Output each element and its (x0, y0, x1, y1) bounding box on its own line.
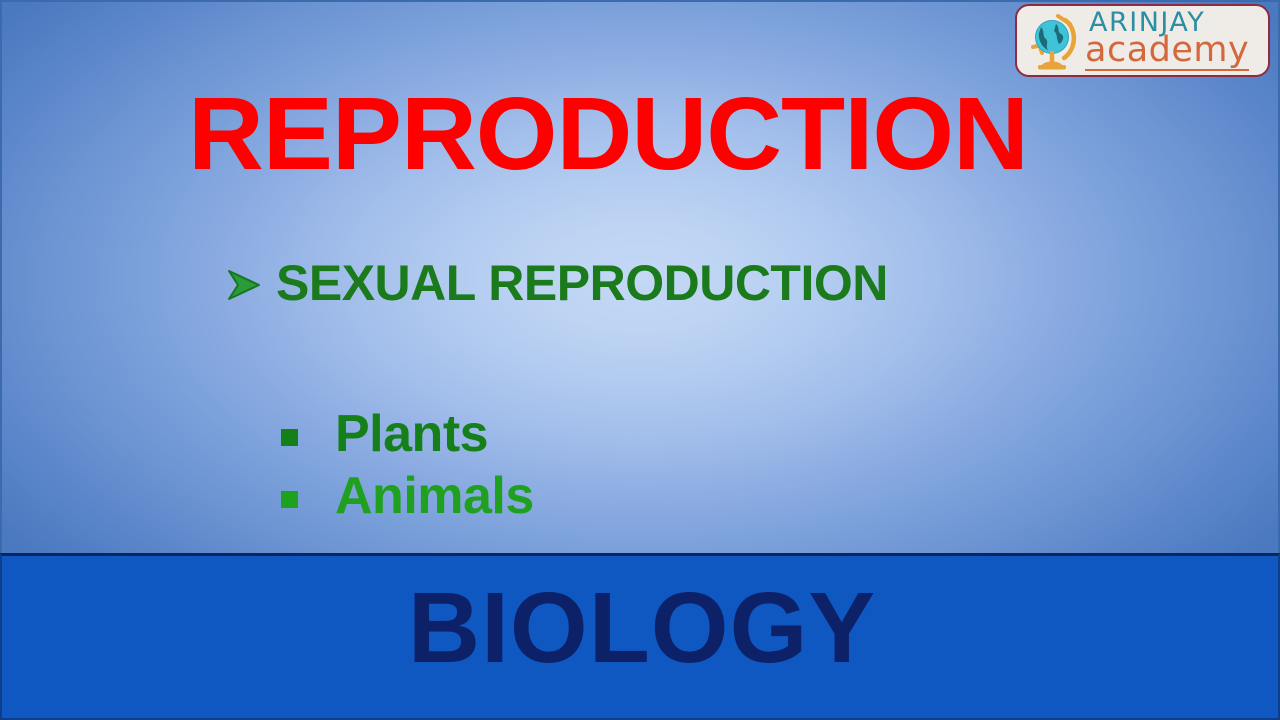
square-bullet-icon (281, 429, 298, 446)
bullet-label-animals: Animals (335, 470, 534, 522)
bullet-item-sexual-reproduction: SEXUAL REPRODUCTION (226, 258, 888, 308)
logo-line-academy: academy (1085, 33, 1249, 71)
slide-content-area: ARINJAY academy REPRODUCTION SEXUAL REPR… (0, 0, 1280, 553)
presentation-slide: ARINJAY academy REPRODUCTION SEXUAL REPR… (0, 0, 1280, 720)
arrow-bullet-icon (226, 265, 262, 305)
bullet-item-animals: Animals (281, 470, 534, 522)
subject-banner: BIOLOGY (0, 553, 1280, 720)
bullet-label-sexual-reproduction: SEXUAL REPRODUCTION (276, 258, 888, 308)
slide-title: REPRODUCTION (188, 82, 1028, 185)
arinjay-academy-logo[interactable]: ARINJAY academy (1015, 4, 1270, 77)
bullet-label-plants: Plants (335, 408, 488, 460)
square-bullet-icon (281, 491, 298, 508)
logo-wordmark: ARINJAY academy (1085, 9, 1262, 73)
globe-icon (1025, 11, 1083, 71)
bullet-item-plants: Plants (281, 408, 488, 460)
subject-banner-title: BIOLOGY (2, 578, 1280, 678)
